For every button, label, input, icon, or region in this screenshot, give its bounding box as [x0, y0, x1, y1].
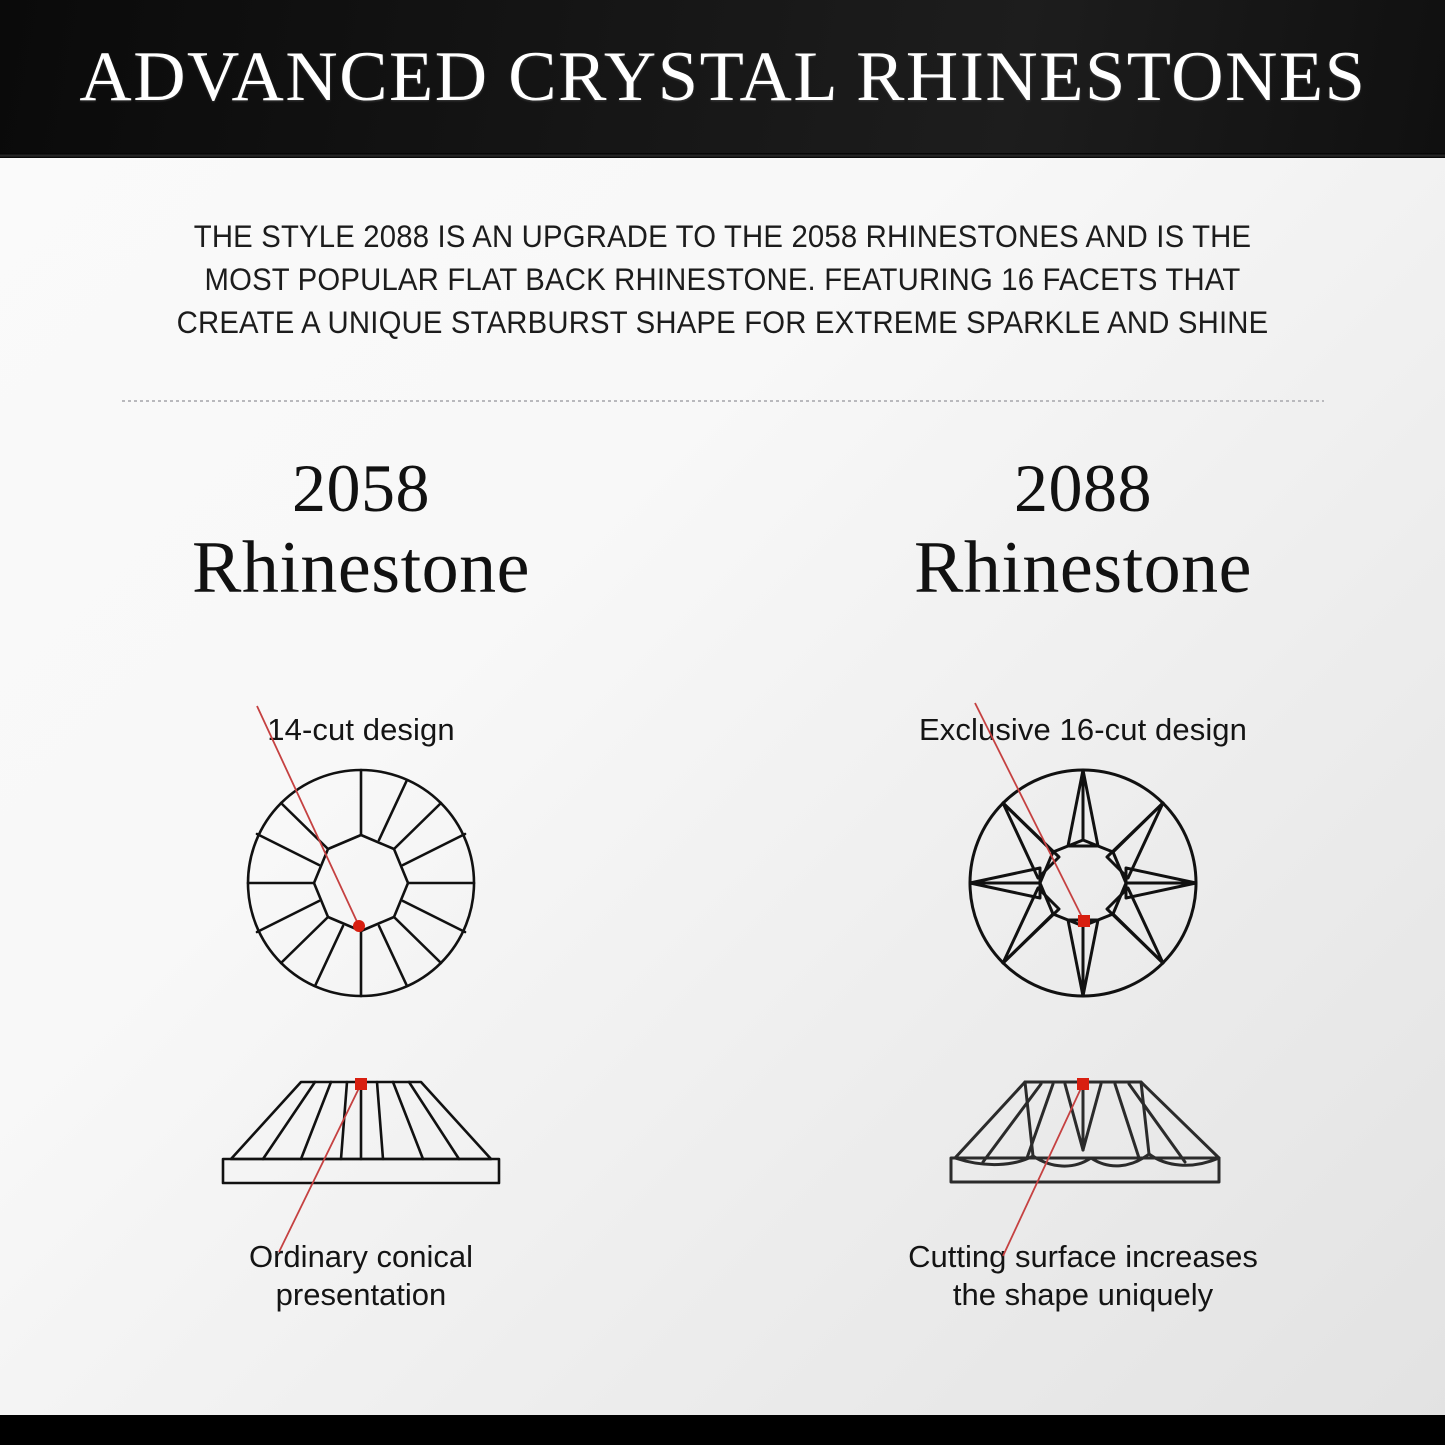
comparison-columns: 2058 Rhinestone 14-cut design [0, 455, 1445, 1314]
crystal-top-view-16-cut-starburst-icon [933, 758, 1233, 1008]
column-2058-cut-label: 14-cut design [267, 712, 454, 748]
infographic-page: ADVANCED CRYSTAL RHINESTONES THE STYLE 2… [0, 0, 1445, 1445]
pointer-dot-starburst [1077, 1078, 1089, 1090]
section-divider [122, 400, 1324, 402]
column-2088-cut-label: Exclusive 16-cut design [919, 712, 1247, 748]
column-2058-heading: 2058 Rhinestone [192, 455, 530, 604]
column-2058-caption: Ordinary conical presentation [249, 1238, 473, 1314]
column-2088-word: Rhinestone [914, 532, 1252, 605]
column-2088: 2088 Rhinestone Exclusive 16-cut design [722, 455, 1444, 1314]
pointer-dot-16-cut [1078, 915, 1090, 927]
intro-line-1: THE STYLE 2088 IS AN UPGRADE TO THE 2058… [144, 215, 1302, 258]
column-2058-word: Rhinestone [192, 532, 530, 605]
intro-line-2: MOST POPULAR FLAT BACK RHINESTONE. FEATU… [144, 258, 1302, 301]
intro-paragraph: THE STYLE 2088 IS AN UPGRADE TO THE 2058… [144, 215, 1302, 344]
crystal-side-view-starburst-icon [923, 1066, 1243, 1196]
column-2058-code: 2058 [192, 455, 530, 522]
pointer-dot-conical [355, 1078, 367, 1090]
page-title: ADVANCED CRYSTAL RHINESTONES [79, 42, 1366, 117]
column-2088-heading: 2088 Rhinestone [914, 455, 1252, 604]
intro-line-3: CREATE A UNIQUE STARBURST SHAPE FOR EXTR… [144, 301, 1302, 344]
pointer-dot-14-cut [353, 920, 365, 932]
column-2058-caption-line-2: presentation [249, 1276, 473, 1314]
crystal-side-view-conical-icon [201, 1066, 521, 1196]
column-2088-caption-line-2: the shape uniquely [908, 1276, 1258, 1314]
column-2088-caption-line-1: Cutting surface increases [908, 1238, 1258, 1276]
column-2058: 2058 Rhinestone 14-cut design [0, 455, 722, 1314]
column-2088-caption: Cutting surface increases the shape uniq… [908, 1238, 1258, 1314]
header-banner: ADVANCED CRYSTAL RHINESTONES [0, 0, 1445, 158]
footer-strip [0, 1415, 1445, 1445]
column-2088-code: 2088 [914, 455, 1252, 522]
crystal-top-view-14-cut-icon [211, 758, 511, 1008]
